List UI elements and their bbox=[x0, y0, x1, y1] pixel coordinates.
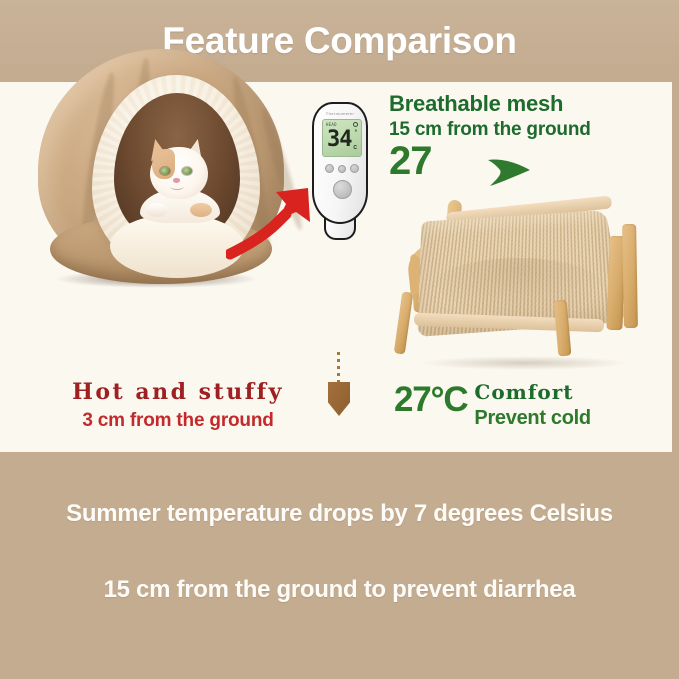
brown-down-arrow-icon bbox=[326, 352, 352, 418]
green-swoosh-arrow-icon bbox=[486, 150, 534, 188]
thermometer-battery-icon bbox=[353, 122, 358, 127]
hammock-mesh-sag-shading bbox=[432, 258, 604, 316]
cat-eye-right bbox=[182, 167, 192, 175]
comfort-caption: 27°C Comfort Prevent cold bbox=[394, 378, 672, 432]
thermometer-button-1[interactable] bbox=[325, 164, 334, 173]
cat-mouth bbox=[170, 183, 184, 190]
hot-and-stuffy-caption: Hot and stuffy 3 cm from the ground bbox=[28, 378, 328, 434]
panel-right-edge bbox=[672, 82, 679, 452]
breathable-mesh-line1: Breathable mesh bbox=[389, 90, 669, 117]
cave-bed-inner-cushion bbox=[110, 214, 244, 278]
thermometer-brand-label: Thermometer bbox=[314, 111, 366, 116]
down-arrow-dotted-line bbox=[337, 352, 340, 384]
wooden-mesh-hammock-image bbox=[380, 196, 672, 376]
down-arrow-head bbox=[328, 382, 350, 416]
red-curved-arrow-icon bbox=[226, 182, 314, 260]
cat-paw-left bbox=[146, 203, 168, 217]
hot-and-stuffy-line2: 3 cm from the ground bbox=[28, 408, 328, 434]
comfort-line1: Comfort bbox=[474, 380, 590, 405]
hammock-shadow bbox=[420, 356, 630, 370]
thermometer-trigger-button[interactable] bbox=[333, 180, 352, 199]
bottom-banner: Summer temperature drops by 7 degrees Ce… bbox=[0, 452, 679, 679]
cat-eye-left bbox=[160, 167, 170, 175]
cat-paw-right bbox=[190, 203, 212, 217]
infrared-thermometer-icon: Thermometer HEAD 34 ° C bbox=[312, 102, 368, 224]
comfort-text-group: Comfort Prevent cold bbox=[474, 378, 590, 432]
comfort-line2: Prevent cold bbox=[474, 405, 590, 432]
hammock-leg bbox=[622, 224, 638, 328]
thermometer-button-2[interactable] bbox=[338, 165, 346, 173]
thermometer-reading: 34 bbox=[327, 127, 352, 152]
bottom-banner-line2: 15 cm from the ground to prevent diarrhe… bbox=[0, 576, 679, 604]
thermometer-unit: C bbox=[353, 145, 357, 151]
bottom-banner-line1: Summer temperature drops by 7 degrees Ce… bbox=[0, 500, 679, 528]
thermometer-degree-symbol: ° bbox=[355, 130, 357, 136]
thermometer-button-3[interactable] bbox=[350, 164, 359, 173]
hot-and-stuffy-line1: Hot and stuffy bbox=[28, 378, 328, 406]
thermometer-screen: HEAD 34 ° C bbox=[322, 119, 362, 157]
cat-illustration bbox=[140, 137, 220, 223]
thermometer-body: Thermometer HEAD 34 ° C bbox=[312, 102, 368, 224]
comfort-temperature: 27°C bbox=[394, 378, 467, 422]
hammock-leg bbox=[394, 292, 414, 355]
